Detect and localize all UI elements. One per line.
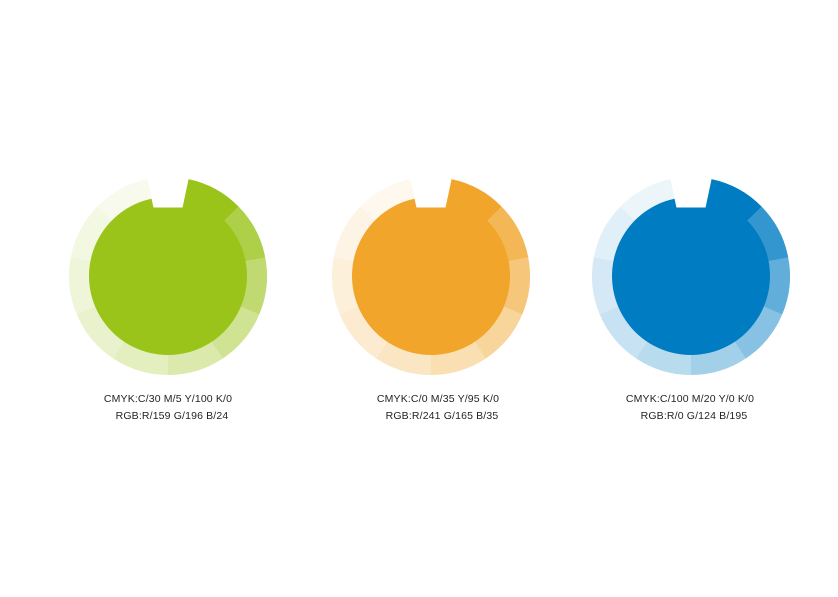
green-swatch xyxy=(68,176,268,376)
blue-cmyk-value: CMYK:C/100 M/20 Y/0 K/0 xyxy=(540,391,838,408)
blue-inner-disc xyxy=(612,199,770,355)
green-cmyk-value: CMYK:C/30 M/5 Y/100 K/0 xyxy=(18,391,318,408)
blue-swatch-caption: CMYK:C/100 M/20 Y/0 K/0 RGB:R/0 G/124 B/… xyxy=(540,391,838,425)
green-inner-disc xyxy=(89,199,247,355)
green-swatch-caption: CMYK:C/30 M/5 Y/100 K/0 RGB:R/159 G/196 … xyxy=(18,391,318,425)
green-swatch-graphic xyxy=(68,176,268,376)
blue-rgb-value: RGB:R/0 G/124 B/195 xyxy=(540,408,838,425)
orange-swatch xyxy=(331,176,531,376)
palette-canvas: CMYK:C/30 M/5 Y/100 K/0 RGB:R/159 G/196 … xyxy=(0,0,838,597)
green-rgb-value: RGB:R/159 G/196 B/24 xyxy=(18,408,318,425)
orange-swatch-graphic xyxy=(331,176,531,376)
blue-swatch-graphic xyxy=(591,176,791,376)
orange-inner-disc xyxy=(352,199,510,355)
blue-swatch xyxy=(591,176,791,376)
